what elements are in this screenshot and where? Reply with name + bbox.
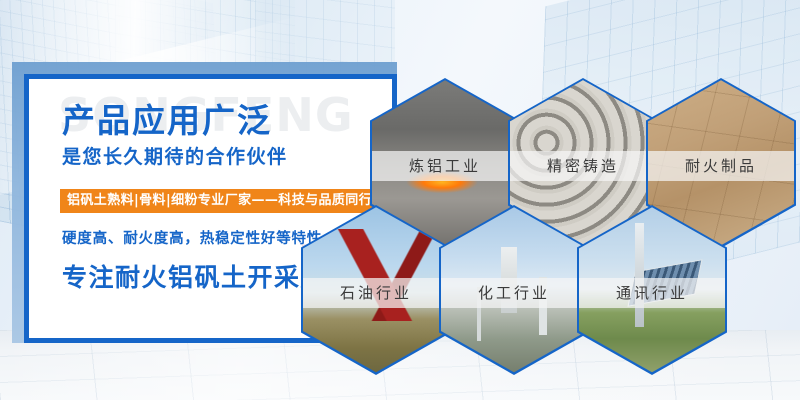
feature-text: 硬度高、耐火度高，热稳定性好等特性 xyxy=(62,232,322,247)
page-title: 产品应用广泛 xyxy=(62,104,272,137)
tagline-badge: 铝矾土熟料|骨料|细粉专业厂家——科技与品质同行 xyxy=(60,189,379,213)
hex-label-smelting: 炼铝工业 xyxy=(372,151,518,181)
hex-label-petroleum: 石油行业 xyxy=(303,278,449,308)
page-subtitle: 是您长久期待的合作伙伴 xyxy=(62,148,288,167)
hex-label-chemical: 化工行业 xyxy=(441,278,587,308)
hex-label-casting: 精密铸造 xyxy=(510,151,656,181)
promo-banner: SONGFENG 产品应用广泛 是您长久期待的合作伙伴 铝矾土熟料|骨料|细粉专… xyxy=(0,0,800,400)
hex-label-telecom: 通讯行业 xyxy=(579,278,725,308)
hex-label-refractory: 耐火制品 xyxy=(648,151,794,181)
